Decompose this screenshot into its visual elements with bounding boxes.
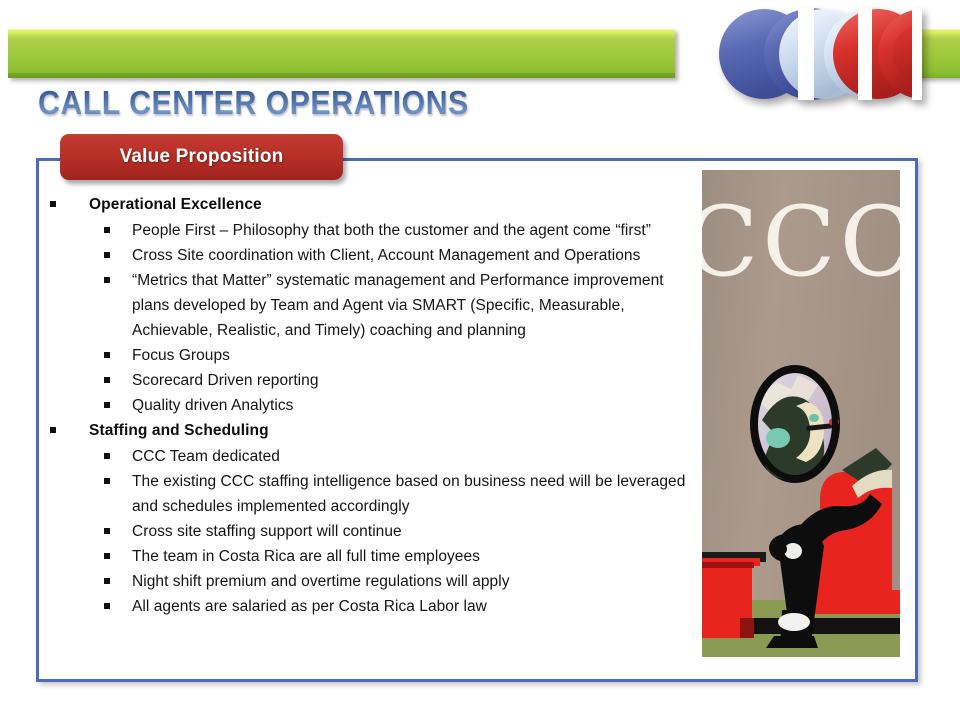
bullet-text: Night shift premium and overtime regulat… — [110, 569, 510, 594]
bullet-text: Cross site staffing support will continu… — [110, 519, 402, 544]
bullet-item: CCC Team dedicated — [42, 444, 692, 469]
bullet-text: Cross Site coordination with Client, Acc… — [110, 243, 640, 268]
bullet-text: “Metrics that Matter” systematic managem… — [110, 268, 692, 343]
bullet-item: Night shift premium and overtime regulat… — [42, 569, 692, 594]
bullet-text: CCC Team dedicated — [110, 444, 280, 469]
value-proposition-tab[interactable]: Value Proposition — [60, 134, 343, 180]
bullet-item: “Metrics that Matter” systematic managem… — [42, 268, 692, 343]
art-deco-poster-image: CCC — [702, 170, 900, 657]
svg-text:CCC: CCC — [702, 186, 900, 298]
bullet-text: The existing CCC staffing intelligence b… — [110, 469, 692, 519]
bullet-heading: Operational Excellence — [42, 192, 692, 218]
bullet-text: Focus Groups — [110, 343, 230, 368]
bullet-item: The existing CCC staffing intelligence b… — [42, 469, 692, 519]
bullet-item: Cross site staffing support will continu… — [42, 519, 692, 544]
bullet-text: Staffing and Scheduling — [56, 418, 269, 444]
bullet-item: Scorecard Driven reporting — [42, 368, 692, 393]
bullet-text: All agents are salaried as per Costa Ric… — [110, 594, 487, 619]
bullet-item: Quality driven Analytics — [42, 393, 692, 418]
bullet-text: The team in Costa Rica are all full time… — [110, 544, 480, 569]
bullet-text: People First – Philosophy that both the … — [110, 218, 651, 243]
value-proposition-tab-label: Value Proposition — [120, 146, 284, 168]
bullet-text: Operational Excellence — [56, 192, 262, 218]
ccc-logo — [672, 2, 922, 106]
bullet-item: People First – Philosophy that both the … — [42, 218, 692, 243]
bullet-item: The team in Costa Rica are all full time… — [42, 544, 692, 569]
bullet-item: Focus Groups — [42, 343, 692, 368]
bullet-list: Operational ExcellencePeople First – Phi… — [42, 192, 692, 619]
bullet-text: Quality driven Analytics — [110, 393, 293, 418]
page-title: CALL CENTER OPERATIONS — [38, 84, 469, 122]
bullet-heading: Staffing and Scheduling — [42, 418, 692, 444]
bullet-item: All agents are salaried as per Costa Ric… — [42, 594, 692, 619]
bullet-item: Cross Site coordination with Client, Acc… — [42, 243, 692, 268]
header-green-bar — [8, 29, 675, 78]
bullet-text: Scorecard Driven reporting — [110, 368, 319, 393]
